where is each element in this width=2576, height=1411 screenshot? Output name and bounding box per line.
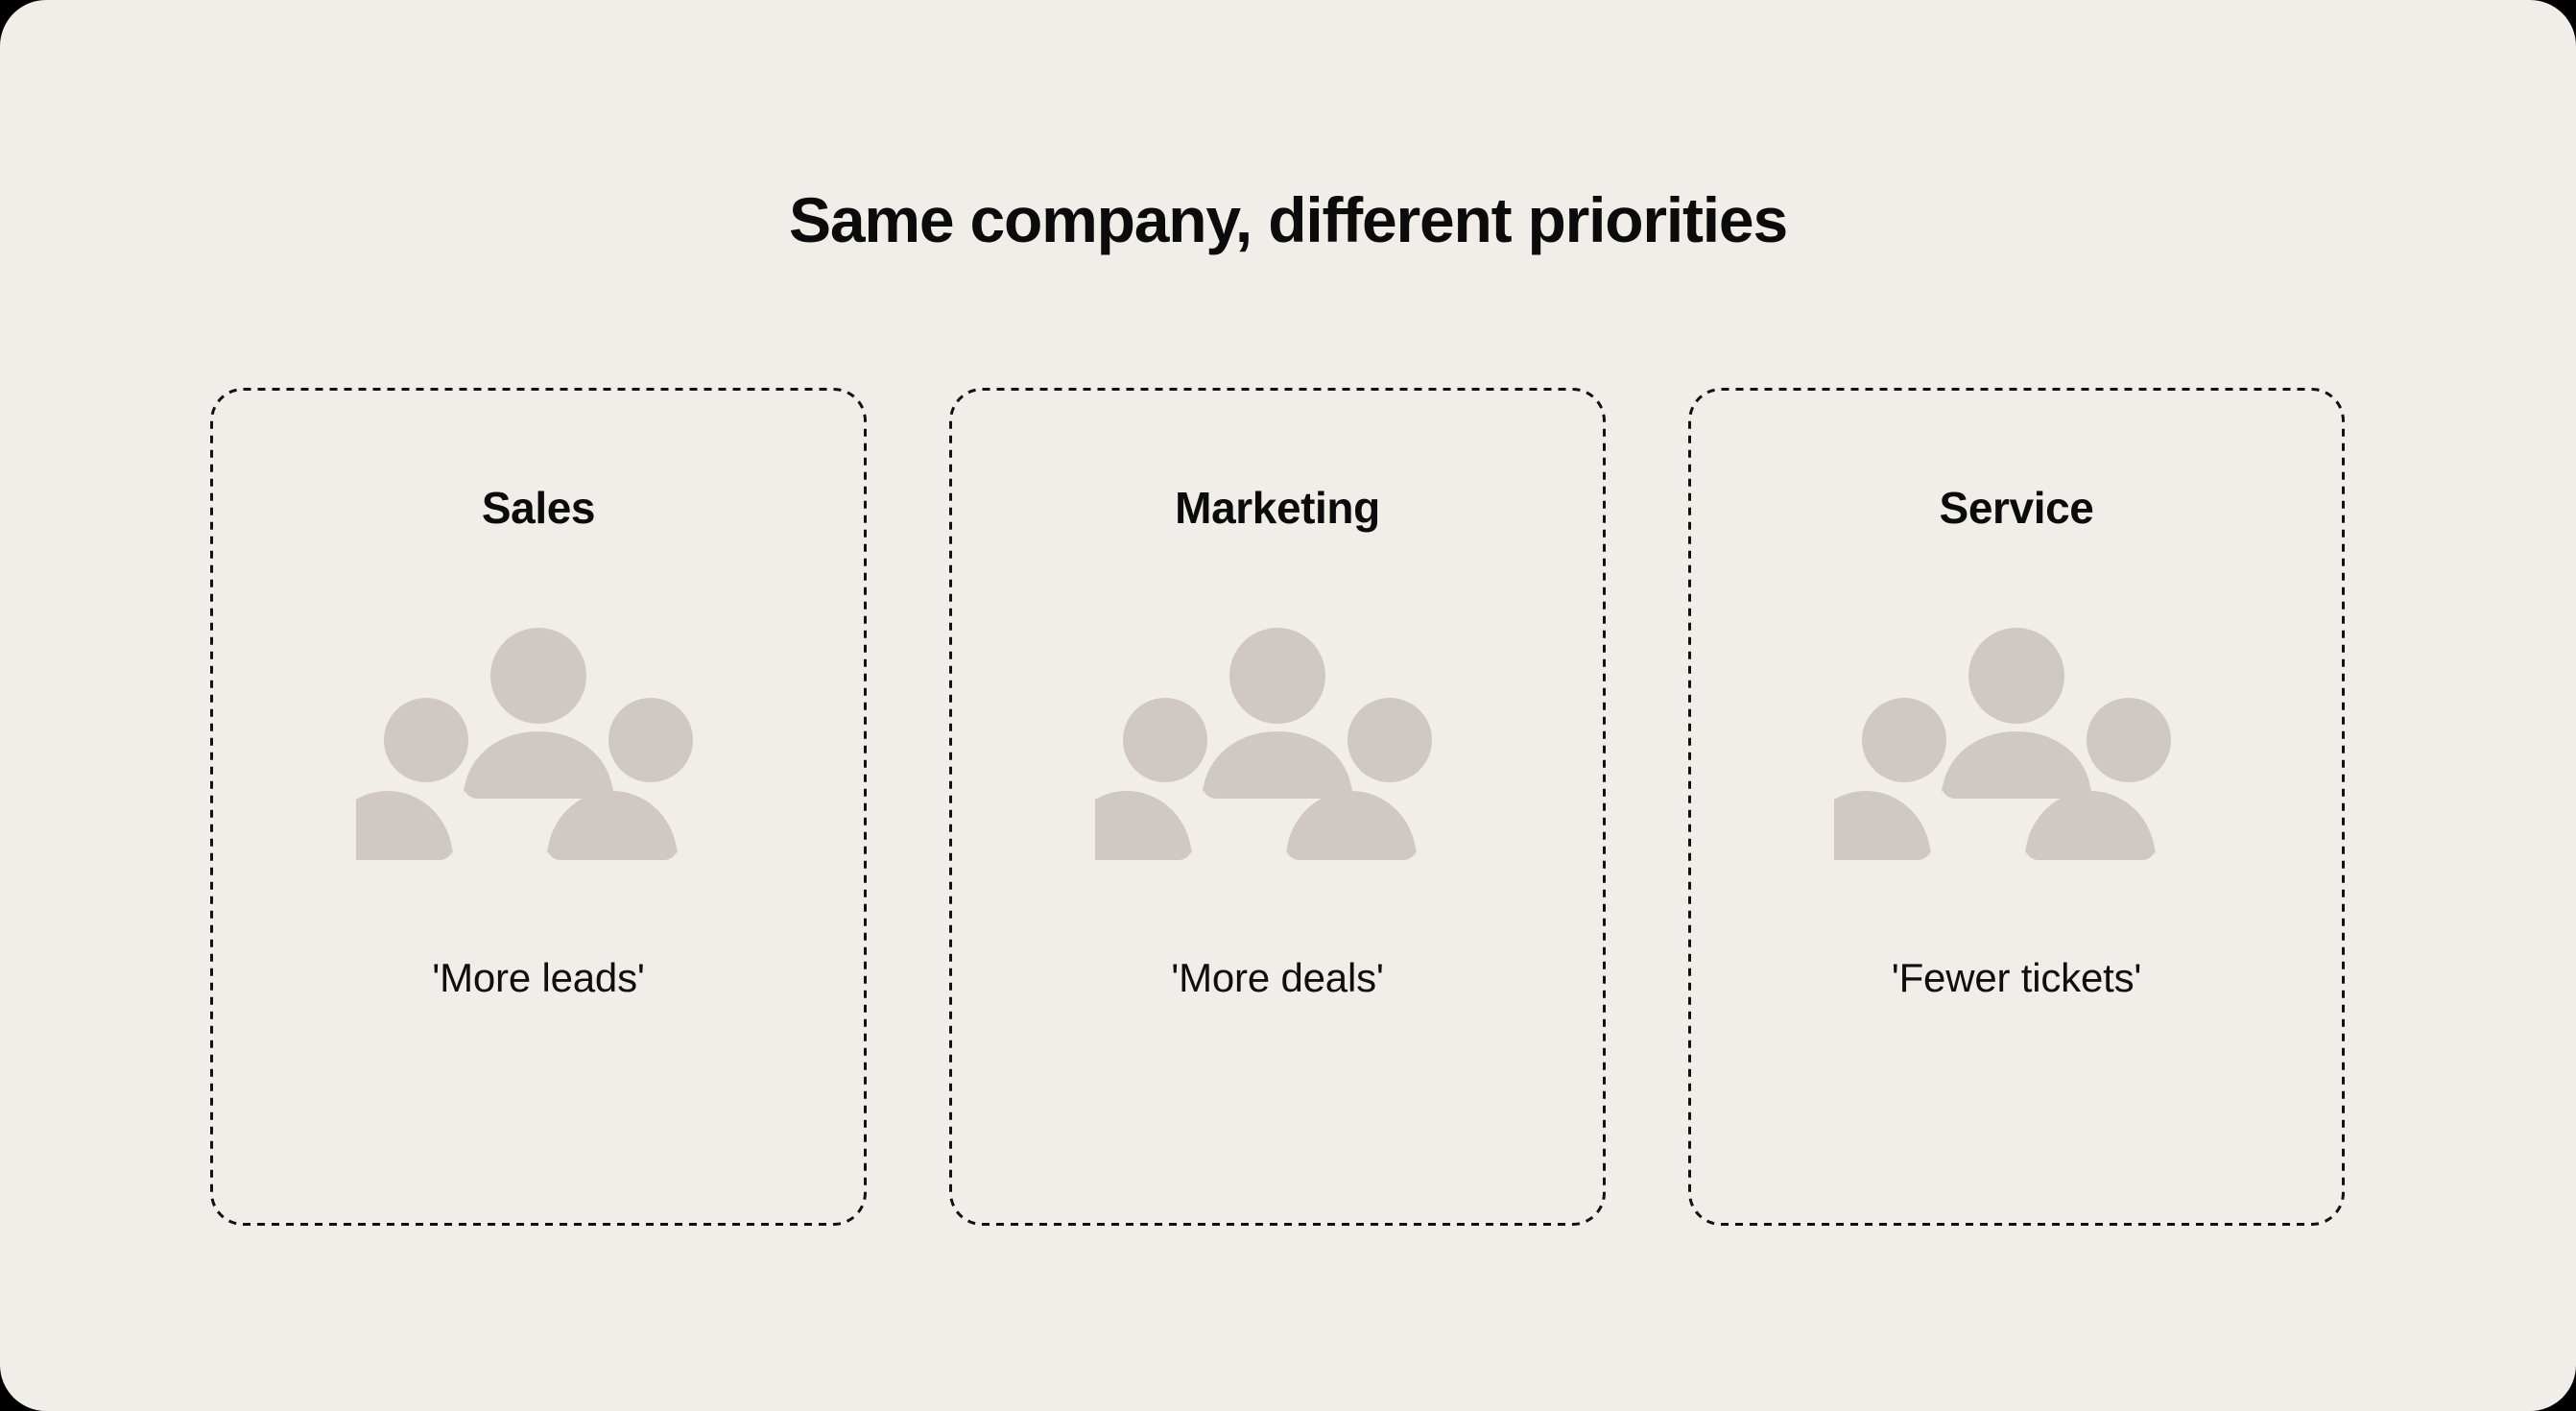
card-caption: 'Fewer tickets' (1892, 958, 2141, 998)
card-title: Sales (482, 486, 595, 530)
card-caption: 'More leads' (432, 958, 644, 998)
priority-card-service[interactable]: Service 'Fewer tickets' (1688, 388, 2345, 1226)
people-group-icon (1095, 618, 1460, 864)
priorities-card-row: Sales 'More leads' (210, 388, 2345, 1226)
people-group-icon (356, 618, 721, 864)
card-title: Service (1940, 486, 2094, 530)
card-title: Marketing (1175, 486, 1380, 530)
page-title: Same company, different priorities (0, 188, 2576, 251)
screenshot-stage: Same company, different priorities Sales (0, 0, 2576, 1411)
people-group-icon (1834, 618, 2199, 864)
priority-card-sales[interactable]: Sales 'More leads' (210, 388, 867, 1226)
priority-card-marketing[interactable]: Marketing 'More deals' (949, 388, 1606, 1226)
card-caption: 'More deals' (1171, 958, 1383, 998)
content-panel: Same company, different priorities Sales (0, 0, 2576, 1411)
